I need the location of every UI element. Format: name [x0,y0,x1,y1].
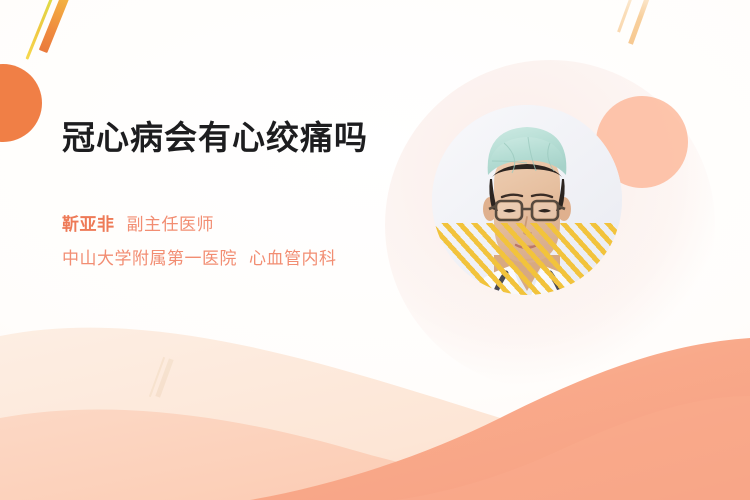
striped-wedge-decoration [432,105,622,295]
portrait-container [398,92,660,377]
doctor-rank: 副主任医师 [127,215,215,234]
doctor-info-card: 冠心病会有心绞痛吗 靳亚非副主任医师 中山大学附属第一医院心血管内科 [0,0,750,500]
doctor-department: 心血管内科 [249,249,337,268]
page-title: 冠心病会有心绞痛吗 [62,118,422,158]
doctor-affiliation: 中山大学附属第一医院心血管内科 [62,244,422,274]
card-text-block: 冠心病会有心绞痛吗 靳亚非副主任医师 中山大学附属第一医院心血管内科 [62,118,422,274]
doctor-name: 靳亚非 [62,215,115,234]
doctor-hospital: 中山大学附属第一医院 [62,249,237,268]
doctor-byline: 靳亚非副主任医师 [62,210,422,240]
